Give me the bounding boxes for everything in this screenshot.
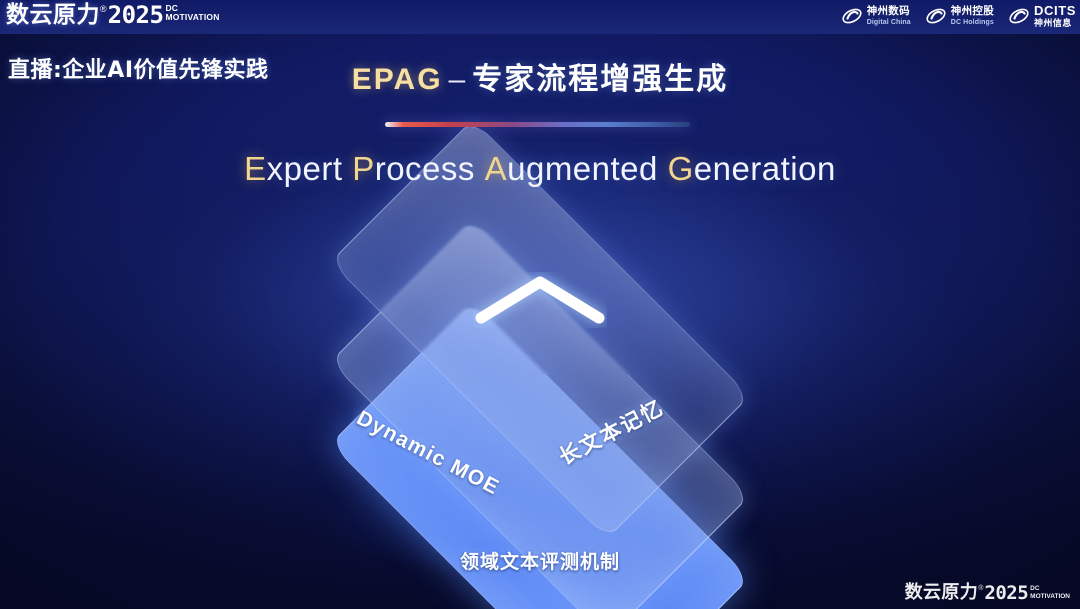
logo-cn: 神州信息: [1034, 19, 1076, 28]
logo-dcits: DCITS 神州信息: [1008, 4, 1076, 28]
chevron-up-icon: [473, 272, 607, 328]
diagram-layer-top: [344, 133, 736, 525]
subtitle-rest-process: rocess: [375, 150, 475, 187]
logo-en: DCITS: [1034, 4, 1076, 17]
registered-mark: ®: [100, 3, 107, 15]
watermark-year: 2025: [984, 583, 1028, 603]
logo-en: Digital China: [867, 19, 911, 26]
title-dash: –: [449, 63, 467, 96]
slide-subtitle: Expert Process Augmented Generation: [0, 150, 1080, 188]
live-headline: 直播:企业AI价值先锋实践: [8, 52, 269, 84]
watermark-dc-line1: DC: [1030, 585, 1070, 593]
logo-dc-holdings: 神州控股 DC Holdings: [925, 5, 994, 27]
title-chinese: 专家流程增强生成: [472, 62, 728, 97]
subtitle-cap-g: G: [668, 150, 694, 187]
layer-label-top: 领域文本评测机制: [240, 547, 840, 574]
logo-en: DC Holdings: [951, 19, 994, 26]
subtitle-rest-expert: xpert: [267, 150, 343, 187]
watermark-dc-motivation: DC MOTIVATION: [1030, 585, 1070, 600]
watermark-registered: ®: [978, 584, 983, 593]
swirl-logo-icon: [841, 5, 863, 27]
gradient-divider: [385, 122, 690, 127]
brand-dc-line2: MOTIVATION: [165, 13, 219, 22]
layered-architecture-diagram: 领域文本评测机制 Dynamic MOE 长文本记忆 三类语义建模模块: [240, 215, 840, 585]
logo-digital-china-text: 神州数码 Digital China: [867, 6, 911, 26]
logo-cn: 神州数码: [867, 6, 911, 17]
logo-dcits-text: DCITS 神州信息: [1034, 4, 1076, 28]
footer-watermark: 数云原力 ® 2025 DC MOTIVATION: [905, 583, 1070, 603]
swirl-logo-icon: [1008, 5, 1030, 27]
brand-dc-motivation: DC MOTIVATION: [165, 4, 219, 22]
brand-name-cn: 数云原力: [6, 2, 100, 28]
subtitle-cap-p: P: [352, 150, 375, 187]
watermark-name-cn: 数云原力: [905, 583, 979, 603]
watermark-dc-line2: MOTIVATION: [1030, 593, 1070, 601]
brand-logo: 数云原力 ® 2025 DC MOTIVATION: [6, 2, 220, 28]
subtitle-rest-generation: eneration: [694, 150, 836, 187]
brand-year: 2025: [108, 2, 164, 28]
subtitle-cap-a: A: [485, 150, 508, 187]
title-acronym: EPAG: [352, 63, 443, 96]
logo-digital-china: 神州数码 Digital China: [841, 5, 911, 27]
partner-logos: 神州数码 Digital China 神州控股 DC Holdings DCIT…: [841, 4, 1076, 28]
subtitle-cap-e: E: [244, 150, 267, 187]
slide-canvas: 数云原力 ® 2025 DC MOTIVATION 直播:企业AI价值先锋实践 …: [0, 0, 1080, 609]
logo-cn: 神州控股: [951, 6, 994, 17]
subtitle-rest-augmented: ugmented: [507, 150, 658, 187]
swirl-logo-icon: [925, 5, 947, 27]
logo-dc-holdings-text: 神州控股 DC Holdings: [951, 6, 994, 26]
